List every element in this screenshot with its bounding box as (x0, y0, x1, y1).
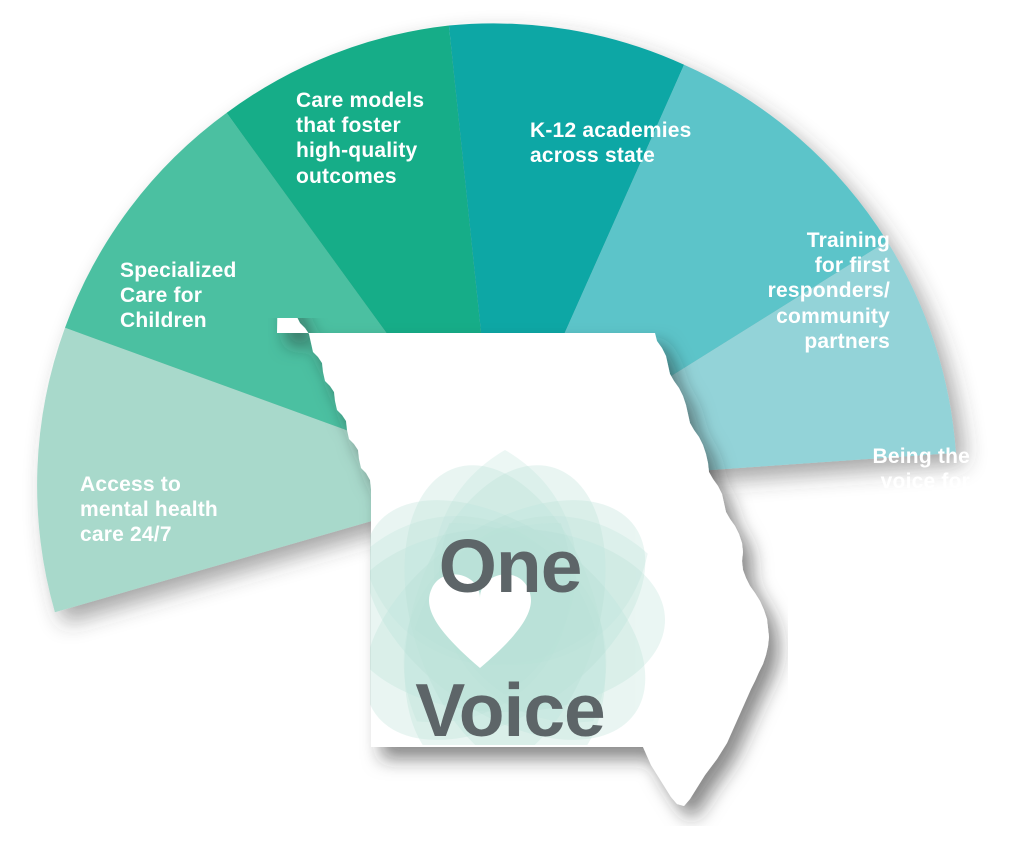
infographic-canvas: Access to mental health care 24/7 Specia… (0, 0, 1024, 844)
missouri-state-map (268, 318, 788, 826)
center-emblem: One Voice (268, 318, 788, 826)
